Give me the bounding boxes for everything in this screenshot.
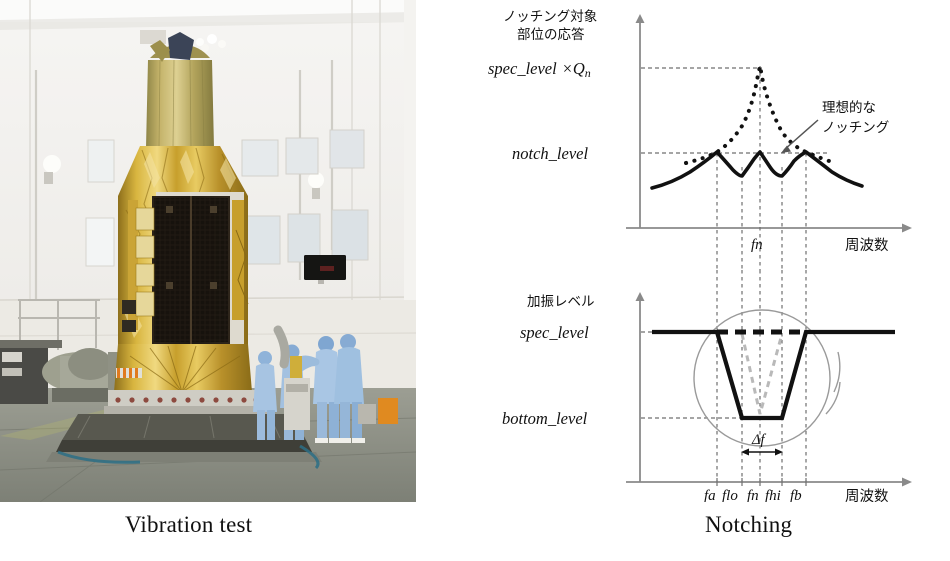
notched-response-curve [652,152,862,188]
delta-f-arrow [741,449,783,456]
xtick-fhi: fhi [765,488,781,502]
excitation-chart-ylabel: 加振レベル [527,294,595,310]
vibration-test-photo [0,0,416,502]
response-chart-ylabel-line2: 部位の応答 [517,26,585,43]
shaker-table [46,414,322,468]
diagram-canvas: ノッチング対象 部位の応答 spec_level×Qn notch_level [470,0,950,502]
photo-canvas [0,0,416,502]
ylabel-spec-level-qn: spec_level×Qn [488,59,591,80]
delta-f-label: Δf [751,432,767,448]
annotation-leader-line [784,120,818,150]
notching-diagram: ノッチング対象 部位の応答 spec_level×Qn notch_level [470,0,950,502]
wall-monitor [304,255,346,284]
ylabel-notch-level: notch_level [512,144,588,163]
xtick-fn-bottom: fn [747,488,759,502]
xtick-fa: fa [704,488,716,502]
arc-decoration-lower [826,382,840,414]
response-chart-y-axis-arrow [636,14,645,23]
left-caption: Vibration test [125,512,252,538]
annotation-arrowhead [781,146,791,154]
figure-root: ノッチング対象 部位の応答 spec_level×Qn notch_level [0,0,950,561]
xtick-fn-top: fn [751,237,763,253]
satellite-solar-panel [152,196,230,344]
response-chart-xlabel: 周波数 [845,237,889,254]
xtick-flo: flo [722,488,738,502]
ylabel-bottom-level: bottom_level [502,409,588,428]
notched-excitation-profile [652,332,895,418]
excitation-chart: 加振レベル spec_level bottom_level [502,270,912,502]
annotation-line1: 理想的な [822,100,876,116]
response-chart: ノッチング対象 部位の応答 spec_level×Qn notch_level [488,9,912,270]
right-caption: Notching [705,512,792,538]
excitation-chart-xlabel: 周波数 [845,488,889,502]
ylabel-spec-level: spec_level [520,323,589,342]
response-chart-x-axis-arrow [902,224,912,233]
warning-stripe-bracket [116,368,142,378]
excitation-chart-y-axis-arrow [636,292,645,301]
excitation-chart-x-axis-arrow [902,478,912,487]
narrow-notch-dashed [742,334,782,414]
shaker-interface-ring [104,390,272,416]
xtick-fb: fb [790,488,802,502]
wall-corner [404,0,416,300]
response-chart-ylabel-line1: ノッチング対象 [503,9,597,25]
annotation-line2: ノッチング [822,120,889,136]
unnotched-response-curve [686,66,832,163]
